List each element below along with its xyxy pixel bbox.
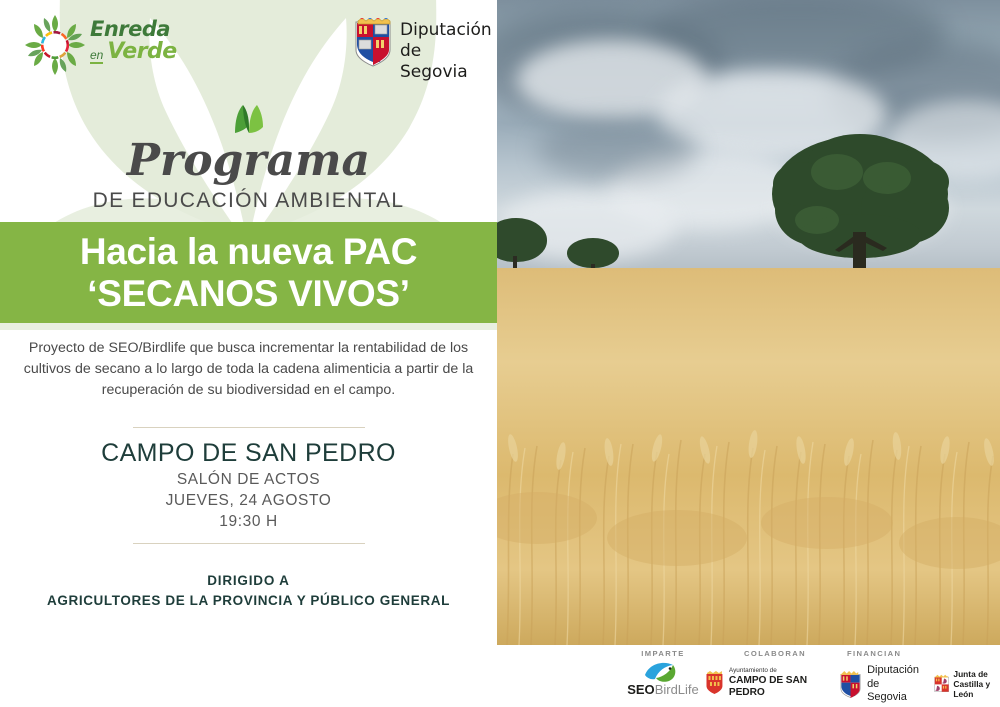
divider-bottom: [133, 543, 365, 544]
sdg-color-wheel-with-leaves-icon: [24, 14, 86, 76]
segovia-coat-of-arms-icon: [839, 670, 862, 699]
enreda-en-verde-logo: Enreda en Verde: [24, 12, 199, 78]
banner-line-1: Hacia la nueva PAC: [80, 231, 417, 273]
ayuntamiento-campo-de-san-pedro-logo: Ayuntamiento de CAMPO DE SAN PEDRO: [705, 667, 845, 699]
diputacion-logo-line1: Diputación: [400, 20, 492, 41]
page-title: Programa: [0, 138, 497, 184]
hero-photo: LA IMPORTANCIA DEL RESPETO A NUESTRO ENT…: [497, 0, 1000, 645]
event-date: JUEVES, 24 AGOSTO: [0, 490, 497, 511]
seo-birdlife-bird-leaf-icon: [643, 661, 683, 683]
program-heading-block: Programa DE EDUCACIÓN AMBIENTAL: [0, 104, 497, 213]
diputacion-segovia-footer-logo: Diputación de Segovia: [839, 664, 920, 705]
main-banner: Hacia la nueva PAC ‘SECANOS VIVOS’: [0, 222, 497, 323]
description-text: Proyecto de SEO/Birdlife que busca incre…: [0, 338, 497, 401]
wheat-field-layer: [497, 268, 1000, 645]
program-subtitle: DE EDUCACIÓN AMBIENTAL: [0, 189, 497, 213]
footer-group-financian: FINANCIAN Diputación de: [839, 649, 999, 705]
jcyl-line2: Castilla y León: [953, 679, 999, 699]
footer-label-financian: FINANCIAN: [839, 649, 999, 658]
enreda-logo-prefix: en: [90, 48, 103, 64]
birdlife-light-text: BirdLife: [655, 682, 699, 697]
seo-bold-text: SEO: [627, 682, 654, 697]
event-time: 19:30 H: [0, 511, 497, 532]
footer-label-imparte: IMPARTE: [615, 649, 711, 658]
top-logos-row: Enreda en Verde: [0, 0, 497, 90]
sponsors-footer: IMPARTE SEOBirdLife COLABORAN: [497, 645, 1000, 707]
castilla-y-leon-coat-of-arms-icon: [934, 672, 949, 696]
enreda-logo-line1: Enreda: [90, 18, 200, 40]
oak-tree-icon: [765, 132, 955, 282]
event-room: SALÓN DE ACTOS: [0, 469, 497, 490]
enreda-logo-line2: Verde: [107, 40, 176, 64]
cloud-icon: [537, 120, 697, 180]
footer-label-colaboran: COLABORAN: [705, 649, 845, 658]
diputacion-logo-line2: de Segovia: [400, 41, 492, 83]
junta-castilla-y-leon-logo: Junta de Castilla y León: [934, 669, 999, 699]
footer-group-imparte: IMPARTE SEOBirdLife: [615, 649, 711, 703]
jcyl-line1: Junta de: [953, 669, 999, 679]
segovia-coat-of-arms-icon: [352, 18, 394, 68]
ayuntamiento-line1: Ayuntamiento de: [729, 667, 845, 675]
audience-block: DIRIGIDO A AGRICULTORES DE LA PROVINCIA …: [0, 571, 497, 611]
campo-de-san-pedro-coat-of-arms-icon: [705, 671, 724, 695]
event-venue: CAMPO DE SAN PEDRO: [0, 437, 497, 469]
seo-birdlife-wordmark: SEOBirdLife: [626, 683, 700, 697]
footer-group-colaboran: COLABORAN Ayuntamiento de: [705, 649, 845, 699]
event-info-block: CAMPO DE SAN PEDRO SALÓN DE ACTOS JUEVES…: [0, 437, 497, 532]
diputacion-segovia-logo: Diputación de Segovia: [352, 16, 482, 72]
left-content-panel: Enreda en Verde: [0, 0, 497, 707]
divider-top: [133, 427, 365, 428]
diputacion-footer-line2: de Segovia: [867, 678, 920, 705]
diputacion-footer-line1: Diputación: [867, 664, 920, 678]
m-leaf-icon: [232, 104, 266, 134]
ayuntamiento-line2: CAMPO DE SAN PEDRO: [729, 675, 845, 699]
banner-line-2: ‘SECANOS VIVOS’: [87, 273, 409, 315]
seo-birdlife-logo: SEOBirdLife: [626, 661, 700, 703]
audience-value: AGRICULTORES DE LA PROVINCIA Y PÚBLICO G…: [0, 591, 497, 611]
audience-label: DIRIGIDO A: [0, 571, 497, 591]
poster: Enreda en Verde: [0, 0, 1000, 707]
